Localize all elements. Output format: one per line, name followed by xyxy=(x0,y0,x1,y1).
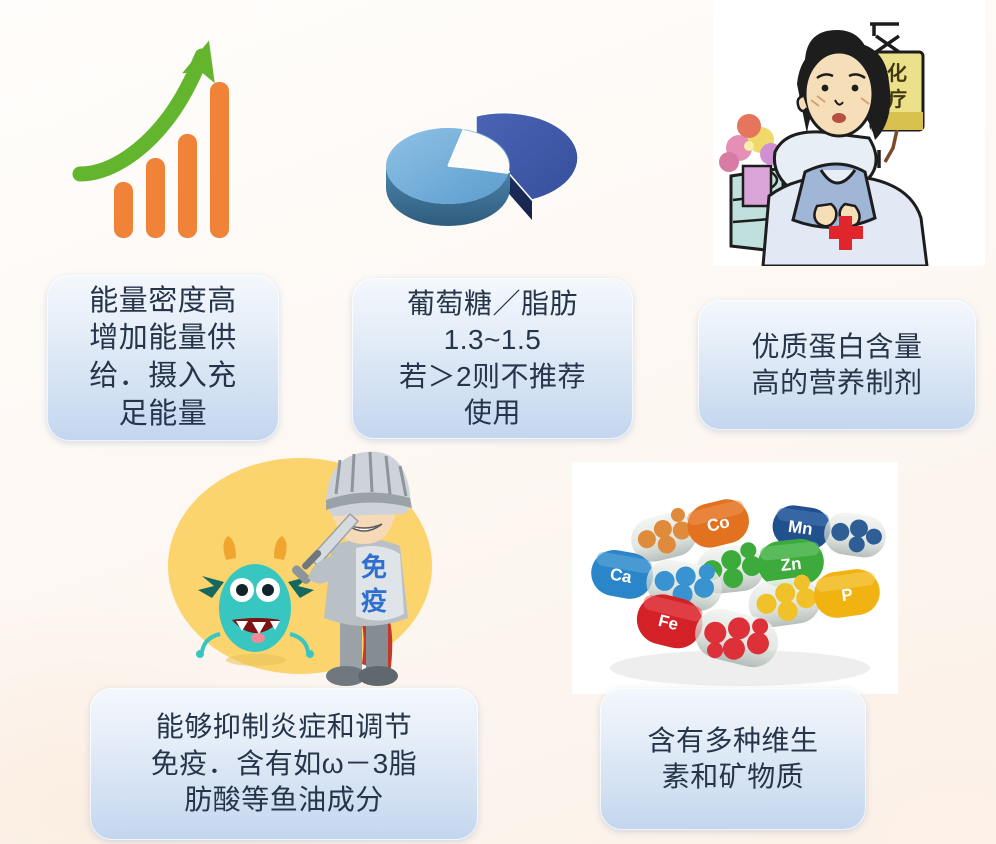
mineral-capsules-photo: Co Mn xyxy=(572,462,898,694)
pie-slice-light xyxy=(386,128,510,226)
capsule-label-zn: Zn xyxy=(780,554,803,575)
growth-chart-icon xyxy=(70,18,300,250)
chemotherapy-patient-illustration: 化 疗 xyxy=(713,0,985,266)
card-anti-inflammatory: 能够抑制炎症和调节 免疫．含有如ω－3脂 肪酸等鱼油成分 xyxy=(90,688,478,840)
card-glucose-fat-ratio: 葡萄糖／脂肪 1.3~1.5 若＞2则不推荐 使用 xyxy=(352,278,633,439)
card-energy-density: 能量密度高 增加能量供 给．摄入充 足能量 xyxy=(47,275,279,441)
card-vitamins-minerals: 含有多种维生 素和矿物质 xyxy=(600,688,866,830)
shield-label-line1: 免 xyxy=(361,552,387,583)
capsule-label-mn: Mn xyxy=(787,517,814,539)
infographic-canvas: 化 疗 xyxy=(0,0,996,844)
3d-pie-chart-icon xyxy=(372,92,594,247)
capsule-label-ca: Ca xyxy=(609,564,634,587)
card-high-quality-protein: 优质蛋白含量 高的营养制剂 xyxy=(698,300,976,430)
immunity-knight-illustration: 免 疫 xyxy=(160,438,450,706)
iv-bag-label-line1: 化 xyxy=(887,61,907,85)
shield-label-line2: 疫 xyxy=(361,586,387,617)
